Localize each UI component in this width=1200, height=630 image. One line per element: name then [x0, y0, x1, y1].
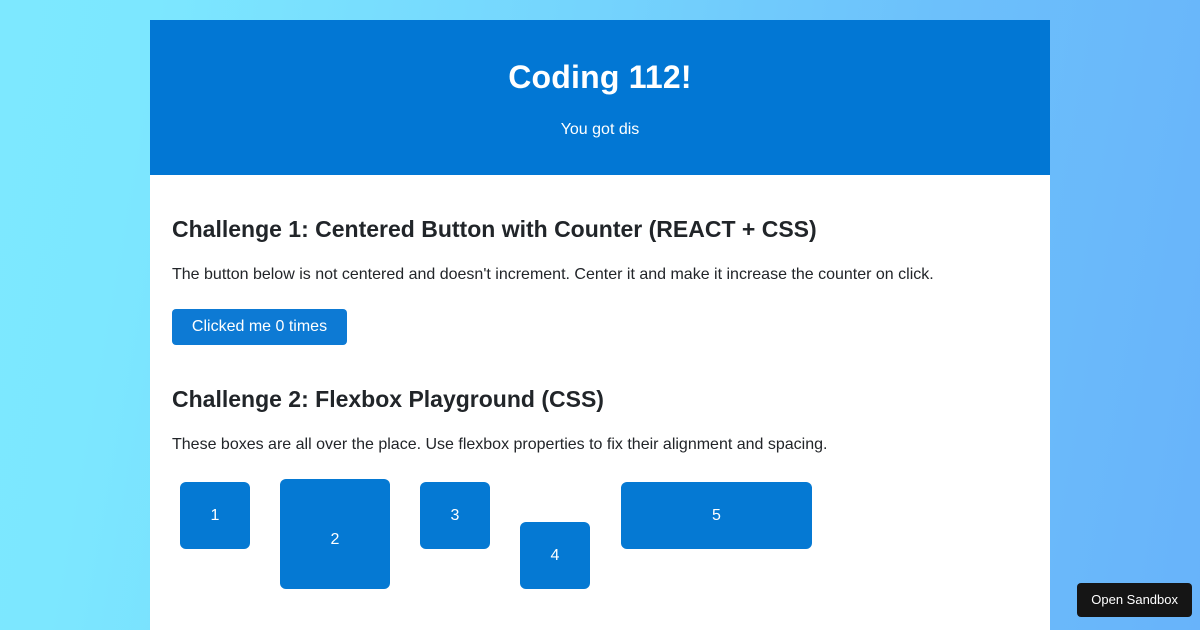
challenge-2-title: Challenge 2: Flexbox Playground (CSS)	[172, 345, 1028, 413]
page-subtitle: You got dis	[150, 96, 1050, 140]
page-title: Coding 112!	[150, 58, 1050, 96]
app-header: Coding 112! You got dis	[150, 20, 1050, 175]
challenge-1-description: The button below is not centered and doe…	[172, 243, 1028, 285]
challenge-2-section: Challenge 2: Flexbox Playground (CSS) Th…	[172, 345, 1028, 613]
flex-box-1[interactable]: 1	[180, 482, 250, 549]
flex-box-5[interactable]: 5	[621, 482, 812, 549]
flex-box-3[interactable]: 3	[420, 482, 490, 549]
flex-box-5-label: 5	[621, 506, 812, 526]
page-root: Coding 112! You got dis Challenge 1: Cen…	[0, 0, 1200, 630]
flex-box-3-label: 3	[420, 506, 490, 526]
challenge-1-title: Challenge 1: Centered Button with Counte…	[172, 175, 1028, 243]
counter-button-row: Clicked me 0 times	[172, 285, 1028, 345]
clicked-me-counter-button[interactable]: Clicked me 0 times	[172, 309, 347, 345]
flex-box-2[interactable]: 2	[280, 479, 390, 589]
app-card: Coding 112! You got dis Challenge 1: Cen…	[150, 20, 1050, 630]
flex-box-4[interactable]: 4	[520, 522, 590, 589]
challenge-2-description: These boxes are all over the place. Use …	[172, 413, 1028, 455]
challenge-1-section: Challenge 1: Centered Button with Counte…	[172, 175, 1028, 345]
flex-box-2-label: 2	[280, 530, 390, 550]
open-sandbox-button[interactable]: Open Sandbox	[1077, 583, 1192, 617]
flex-box-4-label: 4	[520, 546, 590, 566]
flex-box-1-label: 1	[180, 506, 250, 526]
app-body: Challenge 1: Centered Button with Counte…	[150, 175, 1050, 613]
flexbox-playground: 1 2 3 4 5	[172, 473, 1028, 613]
